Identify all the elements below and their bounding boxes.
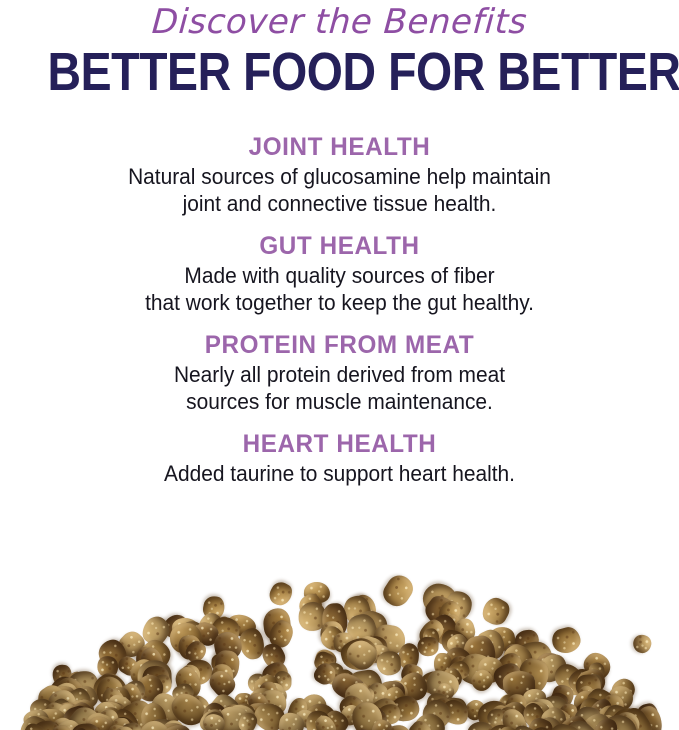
benefit-title: HEART HEALTH — [10, 429, 669, 459]
kibble-piece — [266, 578, 296, 609]
benefit-title: GUT HEALTH — [10, 231, 669, 261]
benefit-description-line: that work together to keep the gut healt… — [17, 289, 662, 316]
kibble-piece — [478, 594, 512, 629]
benefit-item-heart-health: HEART HEALTH Added taurine to support he… — [0, 429, 679, 487]
benefit-description: Made with quality sources of fiber that … — [17, 262, 662, 316]
benefit-item-protein-from-meat: PROTEIN FROM MEAT Nearly all protein der… — [0, 330, 679, 415]
benefits-infographic: Discover the Benefits BETTER FOOD FOR BE… — [0, 0, 679, 730]
benefit-item-gut-health: GUT HEALTH Made with quality sources of … — [0, 231, 679, 316]
benefit-item-joint-health: JOINT HEALTH Natural sources of glucosam… — [0, 132, 679, 217]
page-title: BETTER FOOD FOR BETTER HEALTH — [48, 44, 632, 100]
benefit-description-line: sources for muscle maintenance. — [17, 388, 662, 415]
eyebrow-script-text: Discover the Benefits — [0, 2, 679, 42]
kibble-piece — [376, 651, 401, 676]
kibble-pile-image — [0, 548, 679, 730]
kibble-piece — [379, 571, 417, 611]
benefit-description: Natural sources of glucosamine help main… — [17, 163, 662, 217]
kibble-piece — [549, 624, 583, 656]
benefit-title: PROTEIN FROM MEAT — [10, 330, 669, 360]
benefit-description: Added taurine to support heart health. — [17, 460, 662, 487]
benefit-description-line: Natural sources of glucosamine help main… — [17, 163, 662, 190]
benefit-description-line: joint and connective tissue health. — [17, 190, 662, 217]
kibble-piece — [630, 632, 653, 656]
benefits-list: JOINT HEALTH Natural sources of glucosam… — [0, 132, 679, 501]
benefit-description: Nearly all protein derived from meat sou… — [17, 361, 662, 415]
kibble-piece — [238, 627, 265, 660]
kibble-piece — [417, 636, 439, 656]
benefit-description-line: Nearly all protein derived from meat — [17, 361, 662, 388]
benefit-description-line: Made with quality sources of fiber — [17, 262, 662, 289]
benefit-description-line: Added taurine to support heart health. — [17, 460, 662, 487]
benefit-title: JOINT HEALTH — [10, 132, 669, 162]
